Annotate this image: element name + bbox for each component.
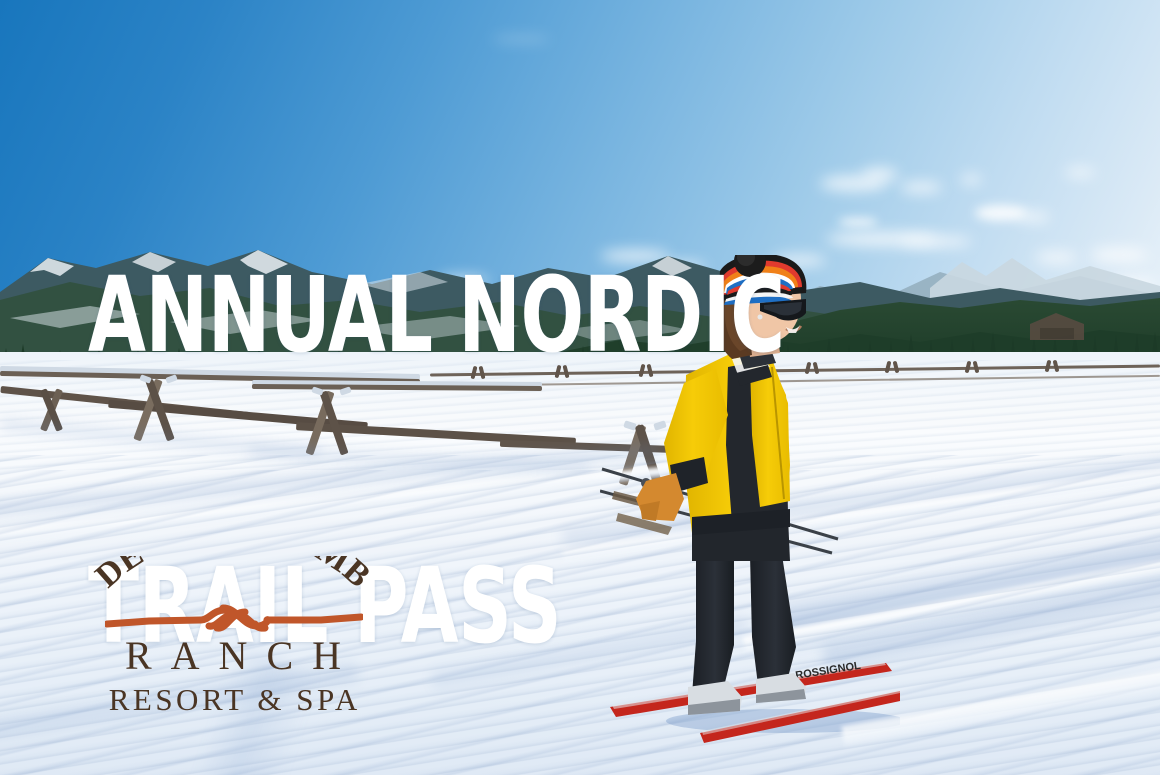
logo-brand-mid: RANCH [83,636,383,676]
svg-text:DEVIL'S THUMB: DEVIL'S THUMB [89,556,378,595]
headline-line-1: ANNUAL NORDIC [88,267,785,364]
nordic-trail-pass-poster: ROSSIGNOL [0,0,1160,775]
logo-brand-top: DEVIL'S THUMB [89,556,378,595]
devils-thumb-ranch-logo: DEVIL'S THUMB RANCH RESORT & SPA [83,556,383,721]
logo-brand-bottom: RESORT & SPA [83,684,383,715]
